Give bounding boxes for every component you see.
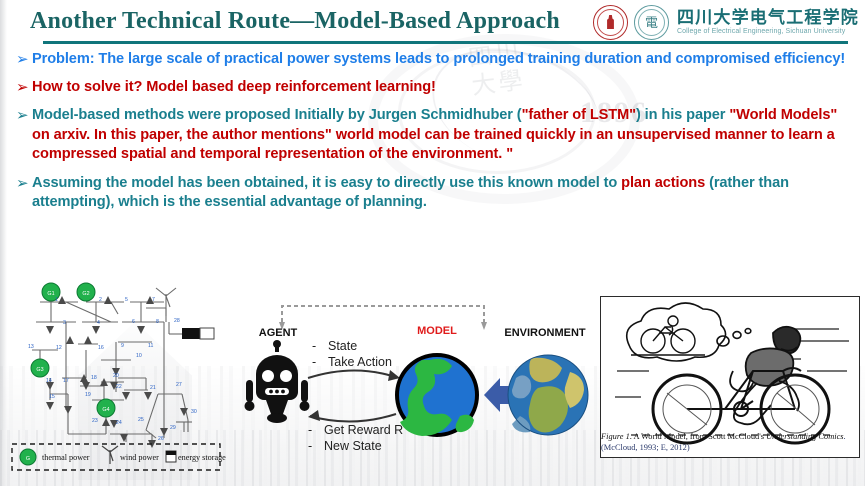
svg-text:13: 13 [28, 344, 34, 350]
svg-text:-: - [308, 423, 312, 437]
svg-text:7: 7 [152, 297, 155, 303]
rl-take-action-label: Take Action [328, 355, 392, 369]
college-seal-icon: 電 [634, 5, 669, 40]
svg-text:1: 1 [55, 297, 58, 303]
svg-text:2: 2 [99, 297, 102, 303]
svg-text:29: 29 [170, 425, 176, 431]
svg-text:11: 11 [148, 343, 153, 349]
svg-text:3: 3 [63, 320, 66, 326]
svg-text:20: 20 [113, 373, 119, 379]
page-title: Another Technical Route—Model-Based Appr… [30, 8, 560, 35]
svg-text:24: 24 [116, 420, 122, 426]
svg-text:energy storage: energy storage [178, 453, 226, 462]
bullet-list: ➢ Problem: The large scale of practical … [16, 50, 854, 218]
svg-text:27: 27 [176, 382, 182, 388]
svg-text:10: 10 [136, 353, 142, 359]
agent-robot-icon [245, 340, 310, 423]
svg-text:9: 9 [121, 343, 124, 349]
svg-text:22: 22 [116, 384, 122, 390]
caption-figure-number: Figure 1 [601, 432, 630, 441]
slide-root: 四川大學 1896 Another Technical Route—Model-… [0, 0, 865, 486]
svg-text:4: 4 [97, 320, 100, 326]
bullet-arrow-icon: ➢ [16, 106, 32, 125]
bullet-arrow-icon: ➢ [16, 50, 32, 69]
bullet-item-solution: ➢ How to solve it? Model based deep rein… [16, 78, 854, 98]
model-label: MODEL [417, 325, 457, 337]
svg-text:-: - [312, 339, 316, 353]
bullet-text-planning: Assuming the model has been obtained, it… [32, 174, 854, 213]
org-name-cn: 四川大学电气工程学院 [677, 8, 859, 27]
org-name-en: College of Electrical Engineering, Sichu… [677, 27, 859, 37]
bullet-item-planning: ➢ Assuming the model has been obtained, … [16, 174, 854, 213]
model-based-rl-diagram: AGENT MODEL ENVIRONMENT - State [232, 292, 592, 462]
svg-text:23: 23 [92, 418, 98, 424]
bullet-arrow-icon: ➢ [16, 78, 32, 97]
bullet-segment: Problem: The large scale of practical po… [32, 51, 845, 67]
rl-get-reward-label: Get Reward R [324, 423, 403, 437]
title-underline [43, 41, 848, 44]
svg-text:-: - [308, 439, 312, 453]
svg-text:8: 8 [156, 319, 159, 325]
environment-globe-icon [508, 355, 588, 435]
bullet-text-world-models: Model-based methods were proposed Initia… [32, 106, 854, 165]
bullet-segment-highlight: "father of LSTM" [522, 107, 636, 123]
brand-text: 四川大学电气工程学院 College of Electrical Enginee… [677, 8, 859, 37]
svg-text:G1: G1 [47, 291, 54, 297]
svg-text:5: 5 [125, 297, 128, 303]
svg-text:21: 21 [150, 385, 156, 391]
svg-text:G4: G4 [102, 407, 109, 413]
svg-text:26: 26 [158, 436, 164, 442]
bullet-item-problem: ➢ Problem: The large scale of practical … [16, 50, 854, 70]
svg-text:30: 30 [191, 409, 197, 415]
bullet-text-solution: How to solve it? Model based deep reinfo… [32, 78, 436, 98]
svg-text:18: 18 [91, 375, 97, 381]
svg-text:17: 17 [63, 378, 69, 384]
bullet-segment-highlight: plan actions [621, 175, 705, 191]
rl-state-label: State [328, 339, 357, 353]
svg-text:thermal power: thermal power [42, 453, 90, 462]
svg-text:28: 28 [174, 318, 180, 324]
bullet-item-world-models: ➢ Model-based methods were proposed Init… [16, 106, 854, 165]
svg-text:19: 19 [85, 392, 91, 398]
environment-label: ENVIRONMENT [504, 327, 586, 339]
svg-text:wind power: wind power [120, 453, 159, 462]
bullet-segment: Model-based methods were proposed Initia… [32, 107, 522, 123]
bullet-arrow-icon: ➢ [16, 174, 32, 193]
bullet-segment: Assuming the model has been obtained, it… [32, 175, 621, 191]
svg-text:15: 15 [49, 394, 55, 400]
caption-italic-title: Understanding Comics [766, 432, 843, 441]
agent-label: AGENT [259, 327, 298, 339]
bullet-text-problem: Problem: The large scale of practical po… [32, 50, 845, 70]
power-system-diagram: G1 G2 G3 G4 12 34 56 78 910 1112 1314 15… [6, 282, 228, 480]
svg-text:14: 14 [46, 378, 52, 384]
figure-caption: Figure 1. A World Model, from Scott McCl… [601, 432, 859, 453]
svg-text:6: 6 [132, 319, 135, 325]
svg-text:G3: G3 [36, 367, 43, 373]
caption-main: . A World Model, from Scott McCloud's [630, 432, 766, 441]
bullet-segment: How to solve it? Model based deep reinfo… [32, 79, 436, 95]
brand-logos: 電 四川大学电气工程学院 College of Electrical Engin… [593, 4, 859, 40]
svg-text:G2: G2 [82, 291, 89, 297]
model-globe-icon [397, 355, 477, 436]
svg-text:G: G [26, 456, 30, 462]
svg-text:16: 16 [98, 345, 104, 351]
bullet-segment: ) in his paper [636, 107, 729, 123]
svg-text:12: 12 [56, 345, 62, 351]
rl-new-state-label: New State [324, 439, 382, 453]
sichuan-university-seal-icon [593, 5, 628, 40]
svg-text:25: 25 [138, 417, 144, 423]
svg-text:-: - [312, 355, 316, 369]
